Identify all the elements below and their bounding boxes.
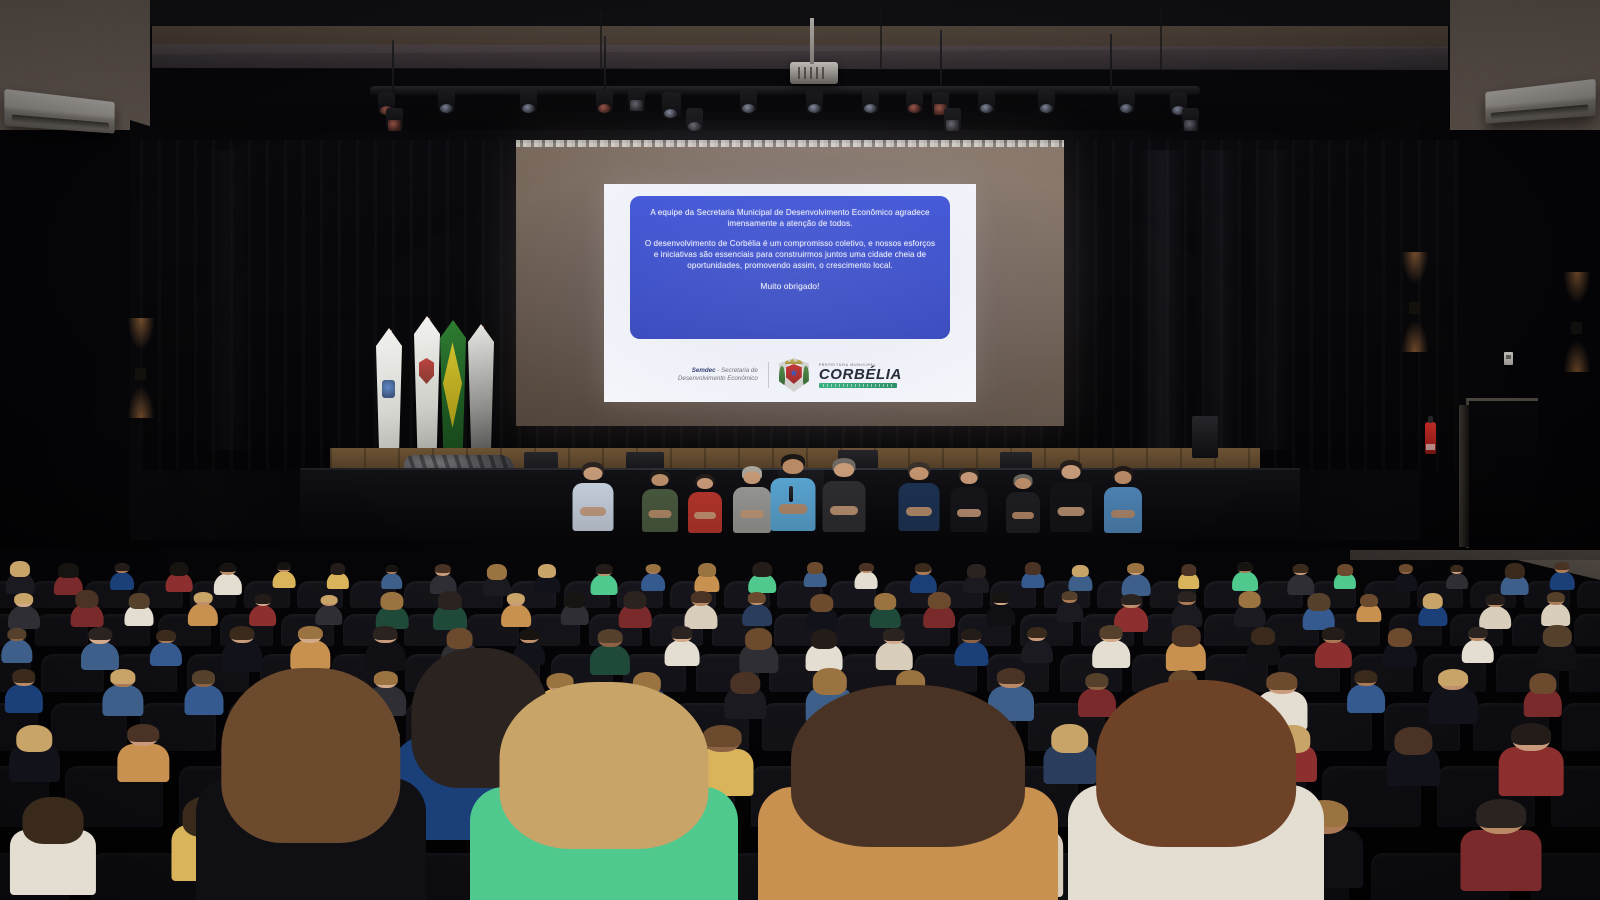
audience-member bbox=[923, 585, 955, 628]
audience-hair bbox=[22, 797, 83, 844]
audience-hair bbox=[1354, 670, 1377, 683]
audience-hair bbox=[229, 626, 254, 640]
projector-vent bbox=[810, 67, 812, 79]
audience-hair bbox=[254, 594, 271, 604]
audience-hair bbox=[12, 669, 36, 682]
curtain-fold bbox=[1250, 150, 1294, 450]
slide-footer: Semdec - Secretaria de Desenvolvimento E… bbox=[604, 358, 976, 392]
audience-torso bbox=[102, 685, 143, 716]
coat-of-arms-crown bbox=[785, 358, 803, 364]
audience-hair bbox=[1555, 562, 1570, 571]
audience-hair bbox=[373, 626, 398, 640]
slide-closing-text: Muito obrigado! bbox=[760, 281, 819, 292]
audience-hair bbox=[1388, 628, 1412, 647]
audience-hair bbox=[1100, 625, 1123, 638]
audience-hair bbox=[596, 564, 613, 573]
audience-hair bbox=[7, 628, 26, 639]
audience-hair bbox=[76, 590, 99, 608]
corbelia-brand-bar bbox=[819, 383, 897, 388]
audience-member bbox=[150, 623, 182, 667]
audience-member bbox=[125, 587, 154, 626]
auditorium-scene: A equipe da Secretaria Municipal de Dese… bbox=[0, 0, 1600, 900]
audience-member bbox=[1429, 659, 1478, 725]
stage-wing-speaker bbox=[1192, 416, 1218, 458]
audience-member bbox=[118, 713, 169, 782]
corbelia-brand-name: CORBÉLIA bbox=[819, 367, 902, 382]
audience-hair bbox=[1360, 594, 1378, 608]
flag-emblem bbox=[382, 380, 395, 398]
audience-hair bbox=[219, 563, 236, 573]
stage-light bbox=[740, 90, 757, 115]
audience-member bbox=[102, 660, 143, 716]
audience-hair bbox=[598, 629, 623, 643]
audience-member bbox=[1383, 620, 1417, 666]
audience-torso bbox=[188, 603, 218, 626]
audience-hair bbox=[330, 563, 346, 575]
audience-member bbox=[327, 558, 349, 588]
stage-light bbox=[1118, 90, 1135, 115]
audience-member bbox=[501, 587, 531, 627]
wall-switch-plate[interactable] bbox=[1504, 352, 1513, 365]
audience-hair bbox=[298, 626, 322, 640]
ceiling-projector bbox=[790, 62, 838, 84]
audience-hair bbox=[1468, 627, 1488, 638]
projector-vent bbox=[798, 67, 800, 79]
audience-hair bbox=[1543, 625, 1571, 647]
wall-sconce-left bbox=[135, 368, 146, 380]
audience-hair bbox=[1450, 565, 1463, 573]
audience-torso bbox=[955, 641, 988, 666]
audience-member bbox=[1021, 620, 1053, 663]
audience-hair bbox=[519, 629, 539, 640]
audience-member bbox=[987, 586, 1016, 625]
flag-coat-of-arms bbox=[414, 316, 440, 466]
semdec-line1: Secretaria de bbox=[721, 367, 758, 374]
audience-hair bbox=[810, 594, 833, 612]
audience-woman-green-top bbox=[470, 672, 738, 900]
corbelia-brand: PREFEITURA MUNICIPAL CORBÉLIA bbox=[819, 363, 902, 388]
audience-hair bbox=[1337, 564, 1353, 576]
audience-hair bbox=[875, 593, 897, 610]
audience-hair bbox=[646, 564, 661, 572]
audience-hair bbox=[992, 592, 1010, 602]
audience-member bbox=[1347, 662, 1385, 713]
foreground-hair bbox=[221, 668, 400, 843]
audience-hair bbox=[671, 626, 692, 638]
slide-paragraph-1: A equipe da Secretaria Municipal de Dese… bbox=[644, 208, 936, 229]
ceiling-seam bbox=[1160, 10, 1162, 70]
audience-torso bbox=[590, 645, 630, 675]
audience-member bbox=[591, 558, 618, 594]
audience-hair bbox=[859, 563, 873, 571]
audience-hair bbox=[381, 592, 404, 610]
audience-torso bbox=[1092, 640, 1130, 668]
ceiling-beam bbox=[150, 0, 1450, 26]
audience-hair bbox=[1238, 591, 1261, 609]
screen-top-edge bbox=[516, 140, 1064, 147]
audience-member bbox=[1418, 587, 1447, 626]
audience-member bbox=[1387, 715, 1440, 786]
audience-hair bbox=[1238, 562, 1254, 571]
audience-member bbox=[188, 585, 218, 626]
audience-hair bbox=[807, 562, 823, 574]
audience-member bbox=[1334, 559, 1356, 589]
stage-light bbox=[596, 90, 613, 115]
audience-hair bbox=[129, 593, 150, 609]
audience-member bbox=[5, 661, 43, 713]
wall-sconce-right-b bbox=[1571, 322, 1582, 334]
coat-of-arms-icon bbox=[779, 358, 809, 392]
slide-message-panel: A equipe da Secretaria Municipal de Dese… bbox=[630, 196, 950, 339]
wall-sconce-right-a bbox=[1409, 302, 1420, 314]
audience-hair bbox=[1061, 591, 1078, 601]
audience-woman-leopard-top bbox=[758, 676, 1058, 900]
audience-hair bbox=[487, 564, 507, 580]
projector-vent bbox=[804, 67, 806, 79]
audience-hair bbox=[194, 592, 213, 603]
audience-member bbox=[10, 779, 96, 895]
audience-hair bbox=[169, 562, 188, 577]
audience-hair bbox=[1477, 799, 1527, 827]
audience-member bbox=[561, 586, 589, 624]
stage-light bbox=[1182, 108, 1199, 133]
audience-hair bbox=[1127, 563, 1145, 573]
stage-light bbox=[862, 90, 879, 115]
audience-member bbox=[1356, 588, 1381, 622]
slide-paragraph-2: O desenvolvimento de Corbélia é um compr… bbox=[644, 239, 936, 271]
stage-light bbox=[906, 90, 923, 115]
audience-woman-profile bbox=[196, 658, 426, 900]
truss-hanger bbox=[392, 40, 394, 96]
semdec-logo-text: Semdec - Secretaria de Desenvolvimento E… bbox=[678, 367, 758, 383]
audience-torso bbox=[150, 642, 182, 666]
audience-hair bbox=[156, 630, 176, 641]
stage-light bbox=[978, 90, 995, 115]
audience-hair bbox=[128, 724, 160, 742]
footer-divider bbox=[768, 362, 769, 388]
coat-of-arms-leaf-right bbox=[803, 366, 809, 388]
audience-hair bbox=[745, 628, 773, 650]
audience-member bbox=[964, 559, 990, 594]
curtain-fold bbox=[205, 150, 249, 450]
audience-hair bbox=[10, 561, 30, 577]
semdec-bold: Semdec bbox=[692, 367, 716, 374]
audience-torso bbox=[1347, 684, 1385, 713]
projector-vent bbox=[816, 67, 818, 79]
audience-hair bbox=[538, 564, 556, 578]
semdec-line2: Desenvolvimento Econômico bbox=[678, 375, 758, 382]
audience-hair bbox=[507, 593, 525, 603]
audience-hair bbox=[320, 595, 337, 605]
audience-hair bbox=[1485, 594, 1504, 605]
audience-hair bbox=[883, 628, 905, 641]
audience-torso bbox=[1394, 573, 1417, 591]
auditorium-seat bbox=[1562, 703, 1600, 751]
audience-member bbox=[273, 557, 296, 588]
truss-hanger bbox=[1110, 34, 1112, 90]
fire-extinguisher bbox=[1425, 422, 1436, 454]
audience-hair bbox=[1121, 594, 1142, 606]
truss-hanger bbox=[604, 36, 606, 92]
audience-member bbox=[1246, 619, 1280, 664]
audience-torso bbox=[1461, 830, 1542, 891]
audience-hair bbox=[277, 562, 291, 570]
audience-torso bbox=[664, 640, 699, 666]
foreground-hair bbox=[499, 682, 708, 850]
audience-member bbox=[1461, 782, 1542, 891]
audience-hair bbox=[1177, 591, 1196, 602]
audience-hair bbox=[1529, 673, 1556, 694]
audience-hair bbox=[435, 564, 451, 573]
curtain-fold bbox=[1196, 150, 1240, 450]
audience-hair bbox=[1307, 593, 1330, 611]
stage-light bbox=[944, 108, 961, 133]
audience-torso bbox=[1056, 601, 1083, 622]
audience-hair bbox=[1172, 625, 1201, 647]
audience-hair bbox=[967, 564, 985, 578]
audience-member bbox=[664, 619, 699, 666]
flag-arms-mark bbox=[419, 358, 434, 384]
stage-light bbox=[438, 90, 455, 115]
stage-light bbox=[520, 90, 537, 115]
audience-member bbox=[1461, 620, 1493, 664]
ceiling-seam bbox=[600, 10, 602, 70]
audience-member bbox=[590, 621, 630, 675]
audience-hair bbox=[1504, 563, 1524, 579]
audience-hair bbox=[385, 565, 398, 573]
audience-hair bbox=[753, 562, 772, 577]
audience-hair bbox=[89, 627, 112, 640]
audience-hair bbox=[915, 563, 931, 572]
audience-hair bbox=[17, 725, 52, 752]
audience-hair bbox=[58, 563, 78, 579]
stage-light bbox=[806, 90, 823, 115]
audience-hair bbox=[1027, 627, 1047, 638]
audience-hair bbox=[1547, 592, 1565, 602]
stage-light bbox=[1038, 90, 1055, 115]
audience-member bbox=[535, 559, 561, 594]
ceiling-seam bbox=[880, 10, 882, 70]
audience-hair bbox=[748, 592, 766, 602]
auditorium-seat bbox=[1574, 614, 1600, 646]
audience-hair bbox=[1025, 562, 1041, 575]
audience-hair bbox=[811, 629, 837, 649]
foreground-hair bbox=[791, 685, 1025, 847]
audience-torso bbox=[1, 639, 32, 663]
stage-light bbox=[628, 88, 645, 113]
audience-woman-cream-top bbox=[1068, 670, 1324, 900]
audience-member bbox=[1446, 560, 1468, 590]
flag-brazil-rhombus bbox=[443, 342, 462, 428]
audience-member bbox=[1537, 617, 1577, 671]
audience-hair bbox=[110, 669, 135, 683]
audience-torso bbox=[987, 604, 1016, 626]
stage-light bbox=[662, 92, 681, 120]
audience-member bbox=[1, 621, 32, 663]
audience-torso bbox=[591, 574, 618, 594]
audience-hair bbox=[961, 629, 981, 641]
audience-member bbox=[804, 557, 827, 587]
auditorium-seat bbox=[1577, 581, 1600, 608]
stage-light bbox=[686, 108, 703, 133]
audience-hair bbox=[928, 592, 950, 609]
audience-hair bbox=[565, 592, 585, 608]
audience-member bbox=[1092, 617, 1130, 668]
audience-hair bbox=[624, 591, 647, 609]
audience-hair bbox=[698, 563, 716, 577]
audience-member bbox=[110, 558, 134, 590]
audience-member bbox=[955, 621, 988, 666]
audience-torso bbox=[1446, 573, 1468, 590]
foreground-hair bbox=[1096, 680, 1296, 848]
curtain-fold bbox=[1140, 150, 1184, 450]
audience-hair bbox=[1292, 564, 1309, 574]
audience-hair bbox=[1181, 564, 1196, 576]
audience-hair bbox=[1398, 564, 1412, 572]
audience-torso bbox=[118, 744, 169, 783]
projector-vent bbox=[822, 67, 824, 79]
truss-hanger bbox=[940, 30, 942, 86]
audience-member bbox=[1394, 559, 1417, 590]
audience-hair bbox=[1251, 627, 1275, 645]
audience-hair bbox=[691, 591, 711, 603]
audience-hair bbox=[1512, 723, 1552, 746]
audience-hair bbox=[1322, 627, 1344, 640]
audience-hair bbox=[1423, 593, 1444, 609]
audience-hair bbox=[14, 593, 34, 604]
audience-hair bbox=[438, 591, 462, 610]
audience-member bbox=[1021, 557, 1044, 588]
audience-hair bbox=[1072, 565, 1088, 578]
presentation-slide: A equipe da Secretaria Municipal de Dese… bbox=[604, 184, 976, 402]
audience-torso bbox=[5, 684, 43, 713]
audience-hair bbox=[1395, 727, 1432, 756]
coat-of-arms-leaf-left bbox=[779, 366, 785, 388]
audience-torso bbox=[273, 571, 296, 588]
audience-hair bbox=[115, 563, 130, 571]
audience-member bbox=[9, 714, 59, 782]
audience-member bbox=[1056, 585, 1083, 622]
audience-member bbox=[855, 558, 878, 589]
lighting-truss bbox=[370, 86, 1200, 95]
stage-light bbox=[386, 108, 403, 133]
audience-hair bbox=[1438, 669, 1468, 686]
